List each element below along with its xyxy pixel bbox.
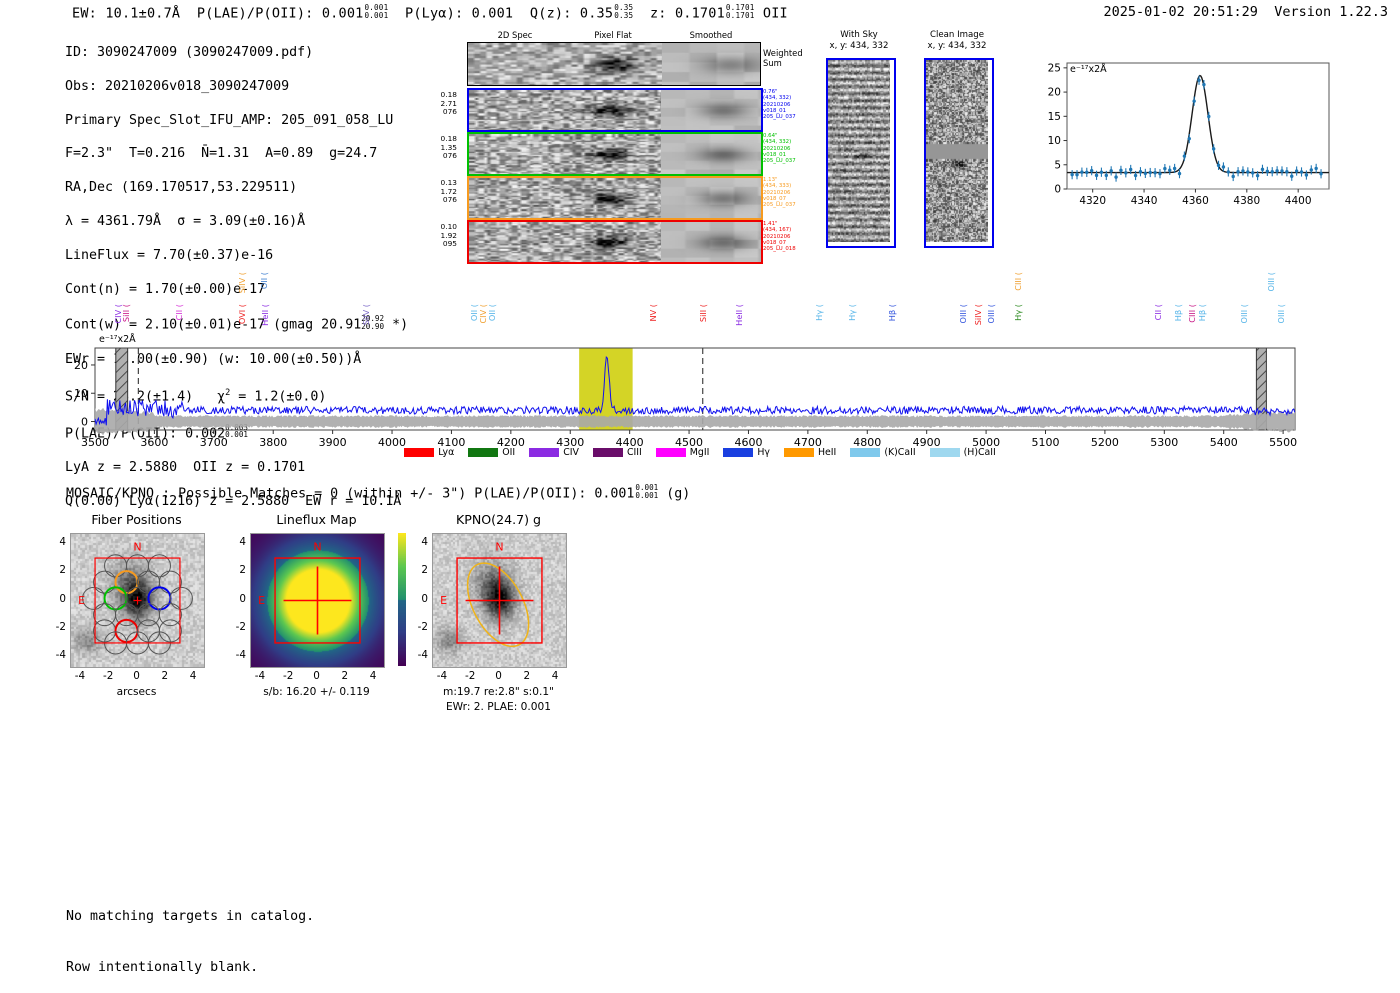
emission-line-label-6: HeII ( [260, 304, 270, 326]
qz-value: 0.35 [580, 5, 613, 21]
legend-label-2: CIV [563, 447, 579, 458]
line-fit-svg: 432043404360438044000510152025 [1033, 55, 1333, 215]
emission-line-label-22: CII ( [1153, 304, 1163, 320]
full-spectrum-chart: 3500360037003800390040004100420043004400… [0, 270, 1400, 470]
emission-line-label-10: OII ( [487, 304, 497, 321]
legend-label-0: Lyα [438, 447, 454, 458]
legend-swatch-4 [656, 448, 686, 457]
weighted-sum-row [467, 42, 761, 86]
svg-text:N: N [495, 540, 503, 553]
legend-item-hγ: Hγ [723, 447, 770, 458]
sky-panel-1-coords: x, y: 434, 332 [902, 41, 1012, 52]
cutout-1-ytick-2: 0 [226, 593, 246, 605]
footer-line-2: Row intentionally blank. [66, 959, 314, 976]
emission-line-label-11: NV ( [648, 304, 658, 322]
fiber-row-4-smoothed [661, 222, 763, 262]
info-seeing: F=2.3" T=0.216 N̄=1.31 A=0.89 g=24.7 [65, 146, 408, 163]
cutout-0-xtick-3: 2 [153, 670, 177, 682]
spectrum-trace [95, 357, 1295, 425]
montage-col-title-1: Pixel Flat [565, 30, 661, 40]
fiber-circle [148, 587, 170, 609]
svg-text:4360: 4360 [1182, 195, 1209, 207]
legend-swatch-3 [593, 448, 623, 457]
fiber-circle [159, 620, 181, 642]
fiber-row-2-smoothed [661, 134, 763, 174]
sky-panel-0-canvas [828, 60, 890, 242]
legend-item-hcaii: (H)CaII [930, 447, 996, 458]
spectrum-flux-unit-annotation: e⁻¹⁷x2Å [99, 334, 136, 345]
fiber-row-4-right-label: 1.41" (434, 167) 20210206 v018_07 205_LU… [763, 221, 811, 252]
info-lineflux: LineFlux = 7.70(±0.37)e-16 [65, 248, 408, 265]
cutout-2-ytick-1: 2 [408, 564, 428, 576]
fiber-row-2 [467, 132, 763, 176]
data-errorbars [1070, 76, 1322, 182]
cutout-0-xtick-0: -4 [68, 670, 92, 682]
montage-col-title-0: 2D Spec [467, 30, 563, 40]
version-label: Version 1.22.3 [1274, 4, 1388, 20]
cutout-1-ytick-4: -4 [226, 649, 246, 661]
cutout-2-ytick-2: 0 [408, 593, 428, 605]
fiber-row-3-left-label: 0.13 1.72 076 [421, 179, 457, 205]
lineflux-colorbar [398, 533, 406, 666]
uncertainty-band [95, 408, 1295, 435]
legend-swatch-7 [850, 448, 880, 457]
sky-panel-1-title: Clean Image [902, 30, 1012, 41]
footer-notes: No matching targets in catalog. Row inte… [66, 874, 314, 993]
gaussian-fit-curve [1067, 76, 1329, 173]
mosaic-post: (g) [666, 486, 690, 501]
sky-panel-0-coords: x, y: 434, 332 [804, 41, 914, 52]
cutout-2-xtick-0: -4 [430, 670, 454, 682]
plae-value: 0.001 [322, 5, 364, 21]
legend-label-1: OII [502, 447, 515, 458]
svg-text:4320: 4320 [1079, 195, 1106, 207]
svg-text:N: N [133, 540, 141, 553]
sky-panel-0-caption: With Skyx, y: 434, 332 [804, 30, 914, 51]
plya-value: 0.001 [472, 5, 514, 21]
emission-line-label-16: Hβ ( [887, 304, 897, 321]
legend-swatch-8 [930, 448, 960, 457]
cutout-0-xtick-1: -2 [96, 670, 120, 682]
fiber-circle [159, 571, 181, 593]
cutout-1-ytick-3: -2 [226, 621, 246, 633]
fiber-row-1-left-label: 0.18 2.71 076 [421, 91, 457, 117]
twod-spectra-montage: 2D SpecPixel FlatSmoothedWeighted Sum0.1… [425, 30, 785, 260]
cutout-2-title: KPNO(24.7) g [377, 512, 620, 527]
fiber-row-3-smoothed [661, 178, 763, 218]
mosaic-kpno-summary: MOSAIC/KPNO : Possible Matches = 0 (with… [66, 484, 690, 501]
emission-line-label-26: OIII ( [1239, 304, 1249, 324]
legend-item-lyα: Lyα [404, 447, 454, 458]
svg-text:4380: 4380 [1233, 195, 1260, 207]
ew-value: 10.1±0.7Å [105, 5, 180, 21]
cutout-0-ytick-3: -2 [46, 621, 66, 633]
emission-line-label-7: SiIV ( [361, 304, 371, 325]
cutout-2-caption-2: EWr: 2. PLAE: 0.001 [382, 701, 615, 713]
fiber-row-2-right-label: 0.64" (434, 332) 20210206 v018_01 205_LU… [763, 133, 811, 164]
cutout-0-ytick-1: 2 [46, 564, 66, 576]
emission-line-label-19: OIII ( [986, 304, 996, 324]
fiber-row-1 [467, 88, 763, 132]
fiber-circle [94, 620, 116, 642]
info-id: ID: 3090247009 (3090247009.pdf) [65, 45, 408, 62]
svg-text:E: E [440, 594, 447, 607]
cutout-2-xtick-1: -2 [458, 670, 482, 682]
svg-text:4340: 4340 [1131, 195, 1158, 207]
fiber-row-1-right-label: 0.76" (434, 332) 20210206 v018_01 205_LU… [763, 89, 811, 120]
svg-text:E: E [258, 594, 265, 607]
legend-item-kcaii: (K)CaII [850, 447, 915, 458]
footer-line-1: No matching targets in catalog. [66, 908, 314, 925]
cutout-2-caption-1: m:19.7 re:2.8" s:0.1" [382, 686, 615, 698]
timestamp: 2025-01-02 20:51:29 [1104, 4, 1258, 20]
fiber-row-4 [467, 220, 763, 264]
emission-line-label-23: Hβ ( [1173, 304, 1183, 321]
plya-label: P(Lyα): [405, 5, 463, 21]
emission-line-fit-chart: 432043404360438044000510152025e⁻¹⁷x2Å [1033, 55, 1333, 215]
cutout-1-xtick-3: 2 [333, 670, 357, 682]
legend-swatch-6 [784, 448, 814, 457]
svg-text:0: 0 [1054, 184, 1061, 196]
emission-line-label-15: Hγ ( [847, 304, 857, 321]
source-ellipse [455, 553, 541, 656]
info-lambda: λ = 4361.79Å σ = 3.09(±0.16)Å [65, 214, 408, 231]
plae-label: P(LAE)/P(OII): [197, 5, 314, 21]
info-obs: Obs: 20210206v018_3090247009 [65, 79, 408, 96]
sky-panel-0-image [826, 58, 896, 248]
cutout-2-xtick-4: 4 [543, 670, 567, 682]
legend-swatch-1 [468, 448, 498, 457]
cutout-2-ytick-0: 4 [408, 536, 428, 548]
fiber-row-3 [467, 176, 763, 220]
timestamp-version: 2025-01-02 20:51:29 Version 1.22.3 [1104, 4, 1389, 20]
cutout-0-ytick-0: 4 [46, 536, 66, 548]
emission-line-label-3: SiIV ( [237, 272, 247, 293]
fiber-circle [105, 587, 127, 609]
emission-line-label-20: CIII ( [1013, 272, 1023, 291]
cutout-2-image: NE [432, 533, 567, 668]
emission-line-label-18: SiIV ( [973, 304, 983, 325]
fiber-circle [115, 620, 137, 642]
cutout-0-image: NE [70, 533, 205, 668]
legend-item-mgii: MgII [656, 447, 710, 458]
svg-text:N: N [313, 540, 321, 553]
sky-panel-1-image [924, 58, 994, 248]
z-species: OII [763, 5, 788, 21]
legend-label-6: HeII [818, 447, 836, 458]
montage-col-title-2: Smoothed [663, 30, 759, 40]
fiber-circle [94, 571, 116, 593]
spectrum-legend: LyαOIICIVCIIIMgIIHγHeII(K)CaII(H)CaII [0, 447, 1400, 458]
mosaic-plae-range: 0.0010.001 [635, 484, 658, 499]
emission-line-label-5: OII ( [259, 272, 269, 289]
legend-label-3: CIII [627, 447, 642, 458]
svg-text:10: 10 [74, 387, 88, 400]
cutout-2-overlay: NE [433, 534, 566, 667]
fiber-row-3-right-label: 1.13" (434, 333) 20210206 v018_07 205_LU… [763, 177, 811, 208]
legend-item-civ: CIV [529, 447, 579, 458]
full-spectrum-svg: 3500360037003800390040004100420043004400… [0, 270, 1400, 470]
emission-line-label-24: CIII ( [1187, 304, 1197, 323]
svg-text:15: 15 [1048, 111, 1061, 123]
cutout-0-ytick-2: 0 [46, 593, 66, 605]
emission-line-label-21: Hγ ( [1013, 304, 1023, 321]
sky-panel-1-caption: Clean Imagex, y: 434, 332 [902, 30, 1012, 51]
z-label: z: [650, 5, 667, 21]
cutout-2-ytick-3: -2 [408, 621, 428, 633]
cutout-1-overlay: NE [251, 534, 384, 667]
weighted-sum-label: Weighted Sum [763, 48, 803, 68]
z-value: 0.1701 [675, 5, 725, 21]
summary-header: EW: 10.1±0.7Å P(LAE)/P(OII): 0.0010.0010… [72, 4, 788, 21]
fiber-circle [137, 620, 159, 642]
fit-flux-unit-annotation: e⁻¹⁷x2Å [1070, 64, 1107, 75]
legend-swatch-5 [723, 448, 753, 457]
svg-text:4400: 4400 [1285, 195, 1312, 207]
cutout-1-ytick-1: 2 [226, 564, 246, 576]
fiber-row-1-smoothed [661, 90, 763, 130]
qz-label: Q(z): [530, 5, 572, 21]
fiber-circle [170, 587, 192, 609]
emission-line-label-13: HeII ( [734, 304, 744, 326]
fiber-row-2-left-label: 0.18 1.35 076 [421, 135, 457, 161]
fiber-row-4-left-label: 0.10 1.92 095 [421, 223, 457, 249]
sky-panel-1-canvas [926, 60, 988, 242]
emission-line-label-28: OIII ( [1276, 304, 1286, 324]
cutout-1-xtick-1: -2 [276, 670, 300, 682]
emission-line-label-4: OVI ( [237, 304, 247, 324]
emission-line-label-14: Hγ ( [814, 304, 824, 321]
svg-text:E: E [78, 594, 85, 607]
cutout-2-ytick-4: -4 [408, 649, 428, 661]
cutout-0-overlay: NE [71, 534, 204, 667]
info-radec: RA,Dec (169.170517,53.229511) [65, 180, 408, 197]
emission-line-label-1: SiII ( [121, 304, 131, 322]
svg-text:10: 10 [1048, 135, 1061, 147]
sky-panel-0-title: With Sky [804, 30, 914, 41]
legend-label-7: (K)CaII [884, 447, 915, 458]
legend-item-heii: HeII [784, 447, 836, 458]
emission-line-label-17: OIII ( [958, 304, 968, 324]
qz-range: 0.350.35 [614, 4, 633, 19]
cutout-2-xtick-3: 2 [515, 670, 539, 682]
legend-label-8: (H)CaII [964, 447, 996, 458]
cutout-0-ytick-4: -4 [46, 649, 66, 661]
emission-line-label-25: Hβ ( [1197, 304, 1207, 321]
weighted-sum-smoothed [662, 43, 761, 85]
legend-swatch-0 [404, 448, 434, 457]
svg-text:20: 20 [74, 359, 88, 372]
svg-text:0: 0 [81, 416, 88, 429]
svg-text:5: 5 [1054, 159, 1061, 171]
mosaic-pre: MOSAIC/KPNO : Possible Matches = 0 (with… [66, 486, 634, 501]
cutout-2-xtick-2: 0 [487, 670, 511, 682]
svg-text:25: 25 [1048, 62, 1061, 74]
info-primary-spec: Primary Spec_Slot_IFU_AMP: 205_091_058_L… [65, 113, 408, 130]
z-range: 0.17010.1701 [726, 4, 755, 19]
fiber-circle [115, 571, 137, 593]
cutout-0-xtick-2: 0 [125, 670, 149, 682]
cutout-1-xtick-2: 0 [305, 670, 329, 682]
cutout-1-xtick-4: 4 [361, 670, 385, 682]
svg-text:20: 20 [1048, 87, 1061, 99]
legend-label-4: MgII [690, 447, 710, 458]
fiber-circle [83, 587, 105, 609]
plae-range: 0.0010.001 [364, 4, 388, 19]
fiber-circle [137, 571, 159, 593]
ew-label: EW: [72, 5, 97, 21]
legend-item-ciii: CIII [593, 447, 642, 458]
cutout-1-image: NE [250, 533, 385, 668]
emission-line-label-12: SiII ( [698, 304, 708, 322]
emission-line-label-27: OIII ( [1266, 272, 1276, 292]
cutout-0-xtick-4: 4 [181, 670, 205, 682]
emission-line-label-2: CII ( [174, 304, 184, 320]
cutout-1-xtick-0: -4 [248, 670, 272, 682]
cutout-1-ytick-0: 4 [226, 536, 246, 548]
legend-swatch-2 [529, 448, 559, 457]
legend-label-5: Hγ [757, 447, 770, 458]
legend-item-oii: OII [468, 447, 515, 458]
